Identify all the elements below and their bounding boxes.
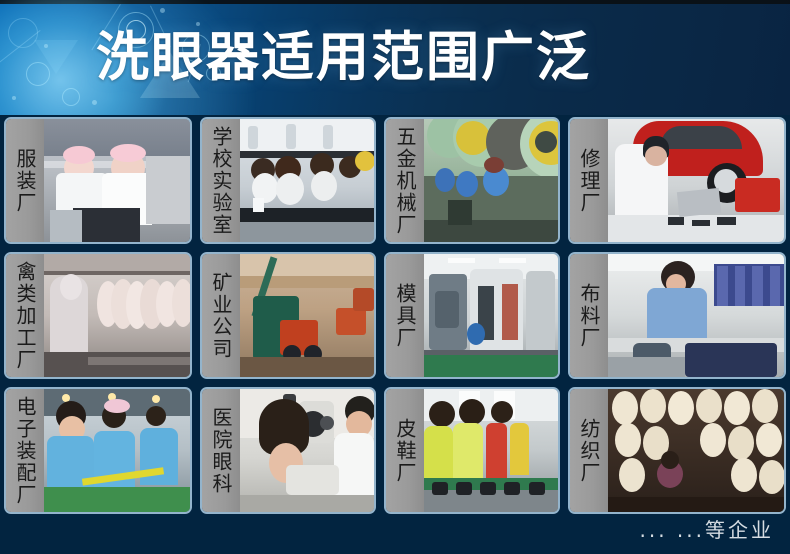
cell-label: 矿业公司 (202, 254, 240, 377)
promo-banner: 洗眼器适用范围广泛 服装厂 (0, 0, 790, 554)
cell-photo-mining-company (240, 254, 374, 377)
industry-cell-repair-shop[interactable]: 修理厂 (568, 117, 786, 244)
industry-cell-mold-factory[interactable]: 模具厂 (384, 252, 560, 379)
cell-label: 五金机械厂 (386, 119, 424, 242)
page-title: 洗眼器适用范围广泛 (96, 27, 591, 89)
cell-label: 皮鞋厂 (386, 389, 424, 512)
cell-label: 服装厂 (6, 119, 44, 242)
cell-photo-poultry-processing-plant (44, 254, 190, 377)
cell-label: 布料厂 (570, 254, 608, 377)
banner-footer: ... ...等企业 (0, 502, 790, 554)
circle-decoration-icon (62, 88, 80, 106)
industry-cell-electronics-assembly-plant[interactable]: 电子装配厂 (4, 387, 192, 514)
banner-header: 洗眼器适用范围广泛 (0, 0, 790, 115)
triangle-decoration-icon (34, 40, 78, 74)
cell-photo-hardware-machinery-factory (424, 119, 558, 242)
grid-row: 电子装配厂 (4, 387, 786, 514)
industry-cell-hardware-machinery-factory[interactable]: 五金机械厂 (384, 117, 560, 244)
cell-photo-leather-shoe-factory (424, 389, 558, 512)
cell-photo-mold-factory (424, 254, 558, 377)
industry-cell-fabric-factory[interactable]: 布料厂 (568, 252, 786, 379)
dot-decoration-icon (196, 22, 200, 26)
industry-grid: 服装厂 学校实验室 (4, 117, 786, 514)
cell-photo-textile-factory (608, 389, 784, 512)
industry-cell-mining-company[interactable]: 矿业公司 (200, 252, 376, 379)
cell-label: 纺织厂 (570, 389, 608, 512)
cell-photo-school-laboratory (240, 119, 374, 242)
footer-note: ... ...等企业 (639, 514, 774, 543)
industry-cell-garment-factory[interactable]: 服装厂 (4, 117, 192, 244)
industry-cell-poultry-processing-plant[interactable]: 禽类加工厂 (4, 252, 192, 379)
dot-decoration-icon (12, 96, 16, 100)
grid-row: 禽类加工厂 矿业公司 (4, 252, 786, 379)
cell-photo-hospital-ophthalmology (240, 389, 374, 512)
industry-cell-hospital-ophthalmology[interactable]: 医院眼科 (200, 387, 376, 514)
dot-decoration-icon (160, 8, 165, 13)
industry-cell-textile-factory[interactable]: 纺织厂 (568, 387, 786, 514)
industry-cell-leather-shoe-factory[interactable]: 皮鞋厂 (384, 387, 560, 514)
cell-label: 模具厂 (386, 254, 424, 377)
dot-decoration-icon (92, 100, 97, 105)
cell-label: 医院眼科 (202, 389, 240, 512)
grid-row: 服装厂 学校实验室 (4, 117, 786, 244)
cell-label: 禽类加工厂 (6, 254, 44, 377)
cell-photo-fabric-factory (608, 254, 784, 377)
cell-photo-repair-shop (608, 119, 784, 242)
cell-photo-electronics-assembly-plant (44, 389, 190, 512)
cell-label: 学校实验室 (202, 119, 240, 242)
cell-label: 修理厂 (570, 119, 608, 242)
cell-photo-garment-factory (44, 119, 190, 242)
cell-label: 电子装配厂 (6, 389, 44, 512)
industry-cell-school-laboratory[interactable]: 学校实验室 (200, 117, 376, 244)
